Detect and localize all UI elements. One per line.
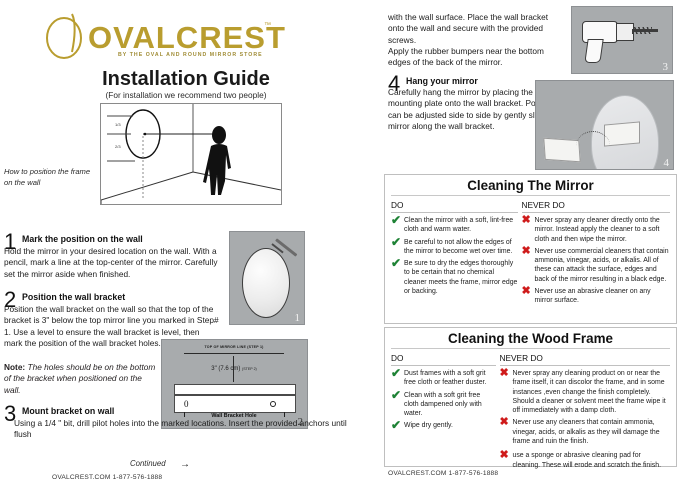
- frame-do-heading: DO: [391, 353, 496, 365]
- mirror-do-rule: [391, 212, 518, 213]
- logo-wordmark: OVALCREST: [88, 20, 286, 56]
- mirror-do-item: ✔ Be careful to not allow the edges of t…: [391, 238, 518, 257]
- photo-4-number: 4: [664, 157, 670, 169]
- installation-guide-page: OVALCREST ™ BY THE OVAL AND ROUND MIRROR…: [0, 0, 679, 489]
- step-4-heading: Hang your mirror: [406, 76, 478, 86]
- frame-never-heading: NEVER DO: [500, 353, 671, 365]
- care-panel-mirror-columns: DO ✔ Clean the mirror with a soft, lint-…: [385, 196, 676, 309]
- right-column: with the wall surface. Place the wall br…: [380, 0, 679, 489]
- cross-icon: ✖: [500, 418, 513, 446]
- frame-do-column: DO ✔ Dust frames with a soft grit free c…: [391, 353, 500, 473]
- mirror-never-column: NEVER DO ✖ Never spray any cleaner direc…: [522, 200, 671, 309]
- svg-text:1/3: 1/3: [115, 122, 121, 127]
- cross-icon: ✖: [522, 247, 535, 284]
- mirror-do-item-text: Clean the mirror with a soft, lint-free …: [404, 216, 518, 235]
- bracket-top-line: [184, 353, 284, 354]
- photo-3-drill: 3: [571, 6, 673, 74]
- frame-never-item: ✖ use a sponge or abrasive cleaning pad …: [500, 451, 671, 470]
- frame-never-item: ✖ Never use any cleaners that contain am…: [500, 418, 671, 446]
- check-icon: ✔: [391, 238, 404, 257]
- trademark-symbol: ™: [264, 22, 271, 29]
- step-1-body: Hold the mirror in your desired location…: [4, 246, 226, 280]
- frame-do-item: ✔ Dust frames with a soft grit free clot…: [391, 369, 496, 388]
- mirror-never-item-text: Never spray any cleaner directly onto th…: [535, 216, 671, 244]
- mirror-do-item-text: Be sure to dry the edges thoroughly to b…: [404, 259, 518, 296]
- drill-grip-shape: [584, 39, 603, 63]
- check-icon: ✔: [391, 391, 404, 419]
- check-icon: ✔: [391, 421, 404, 430]
- cross-icon: ✖: [522, 287, 535, 306]
- brand-logo: OVALCREST ™ BY THE OVAL AND ROUND MIRROR…: [42, 12, 282, 64]
- care-panel-mirror-title: Cleaning The Mirror: [385, 175, 676, 195]
- wall-position-diagram: 1/3 2/3: [100, 103, 282, 205]
- mounting-plate-loose: [543, 138, 580, 163]
- continuation-paragraph-2: Apply the rubber bumpers near the bottom…: [388, 46, 558, 69]
- frame-never-item-text: Never spray any cleaning product on or n…: [513, 369, 671, 415]
- mirror-never-item: ✖ Never use an abrasive cleaner on any m…: [522, 287, 671, 306]
- continuation-paragraph-1: with the wall surface. Place the wall br…: [388, 12, 558, 46]
- bracket-lower-rail: [174, 395, 296, 413]
- mirror-do-item: ✔ Be sure to dry the edges thoroughly to…: [391, 259, 518, 296]
- mirror-never-heading: NEVER DO: [522, 200, 671, 212]
- cross-icon: ✖: [522, 216, 535, 244]
- care-panel-frame-title: Cleaning the Wood Frame: [385, 328, 676, 348]
- drill-bit-flutes: [632, 27, 652, 34]
- frame-do-item: ✔ Clean with a soft grit free cloth damp…: [391, 391, 496, 419]
- frame-do-item-text: Wipe dry gently.: [404, 421, 453, 430]
- continued-label: Continued: [130, 459, 166, 468]
- step-2-note-label: Note:: [4, 362, 25, 372]
- bracket-dimension-value: 3" (7.6 cm): [211, 366, 240, 372]
- mirror-never-item: ✖ Never spray any cleaner directly onto …: [522, 216, 671, 244]
- footer-left: OVALCREST.COM 1-877-576-1888: [52, 474, 162, 481]
- svg-text:2/3: 2/3: [115, 144, 121, 149]
- care-panel-mirror: Cleaning The Mirror DO ✔ Clean the mirro…: [384, 174, 677, 324]
- bracket-upper-rail: [174, 384, 296, 395]
- photo-2-bracket-diagram: TOP OF MIRROR LINE (STEP 1) 3" (7.6 cm) …: [161, 339, 308, 429]
- frame-never-item-text: Never use any cleaners that contain ammo…: [513, 418, 671, 446]
- mirror-do-column: DO ✔ Clean the mirror with a soft, lint-…: [391, 200, 522, 309]
- photo-3-number: 3: [663, 61, 669, 73]
- step-2-note-text: The holes should be on the bottom of the…: [4, 362, 155, 395]
- care-panel-frame: Cleaning the Wood Frame DO ✔ Dust frames…: [384, 327, 677, 467]
- step-3-body: Using a 1/4 " bit, drill pilot holes int…: [14, 418, 354, 441]
- cross-icon: ✖: [500, 451, 513, 470]
- care-panel-frame-columns: DO ✔ Dust frames with a soft grit free c…: [385, 349, 676, 473]
- logo-tagline: BY THE OVAL AND ROUND MIRROR STORE: [118, 52, 263, 58]
- check-icon: ✔: [391, 369, 404, 388]
- room-perspective-illustration: 1/3 2/3: [101, 104, 281, 204]
- photo-1-number: 1: [295, 312, 301, 324]
- frame-never-item-text: use a sponge or abrasive cleaning pad fo…: [513, 451, 671, 470]
- page-subtitle: (For installation we recommend two peopl…: [0, 90, 372, 100]
- frame-do-item-text: Clean with a soft grit free cloth dampen…: [404, 391, 496, 419]
- photo-1-mirror-mark: 1: [229, 231, 305, 325]
- left-column: OVALCREST ™ BY THE OVAL AND ROUND MIRROR…: [0, 0, 372, 489]
- mirror-oval-shape: [242, 248, 290, 318]
- page-title: Installation Guide: [0, 68, 372, 91]
- mirror-do-item: ✔ Clean the mirror with a soft, lint-fre…: [391, 216, 518, 235]
- frame-never-column: NEVER DO ✖ Never spray any cleaning prod…: [500, 353, 671, 473]
- mirror-never-item-text: Never use an abrasive cleaner on any mir…: [535, 287, 671, 306]
- diagram-caption: How to position the frame on the wall: [4, 166, 96, 188]
- continued-arrow-icon: →: [180, 459, 190, 470]
- frame-never-item: ✖ Never spray any cleaning product on or…: [500, 369, 671, 415]
- step-3-heading: Mount bracket on wall: [22, 406, 114, 416]
- mirror-never-item-text: Never use commercial cleaners that conta…: [535, 247, 671, 284]
- oval-monogram-icon: [42, 12, 94, 60]
- check-icon: ✔: [391, 216, 404, 235]
- mirror-never-rule: [522, 212, 671, 213]
- mirror-do-item-text: Be careful to not allow the edges of the…: [404, 238, 518, 257]
- step-1-heading: Mark the position on the wall: [22, 234, 143, 244]
- cross-icon: ✖: [500, 369, 513, 415]
- bracket-dimension-step: (STEP 2): [242, 367, 257, 371]
- footer-right: OVALCREST.COM 1-877-576-1888: [388, 470, 498, 477]
- frame-never-rule: [500, 365, 671, 366]
- mirror-do-heading: DO: [391, 200, 518, 212]
- mirror-never-item: ✖ Never use commercial cleaners that con…: [522, 247, 671, 284]
- step-2-heading: Position the wall bracket: [22, 292, 125, 302]
- bracket-top-label: TOP OF MIRROR LINE (STEP 1): [184, 345, 284, 349]
- bracket-dimension: 3" (7.6 cm) (STEP 2): [184, 366, 284, 372]
- frame-do-item: ✔ Wipe dry gently.: [391, 421, 496, 430]
- frame-do-rule: [391, 365, 496, 366]
- check-icon: ✔: [391, 259, 404, 296]
- bracket-hole-right: [270, 401, 276, 407]
- frame-do-item-text: Dust frames with a soft grit free cloth …: [404, 369, 496, 388]
- bracket-hole-left: 0: [184, 399, 189, 409]
- step-2-note: Note: The holes should be on the bottom …: [4, 362, 156, 396]
- photo-4-hang-mirror: 4: [535, 80, 674, 170]
